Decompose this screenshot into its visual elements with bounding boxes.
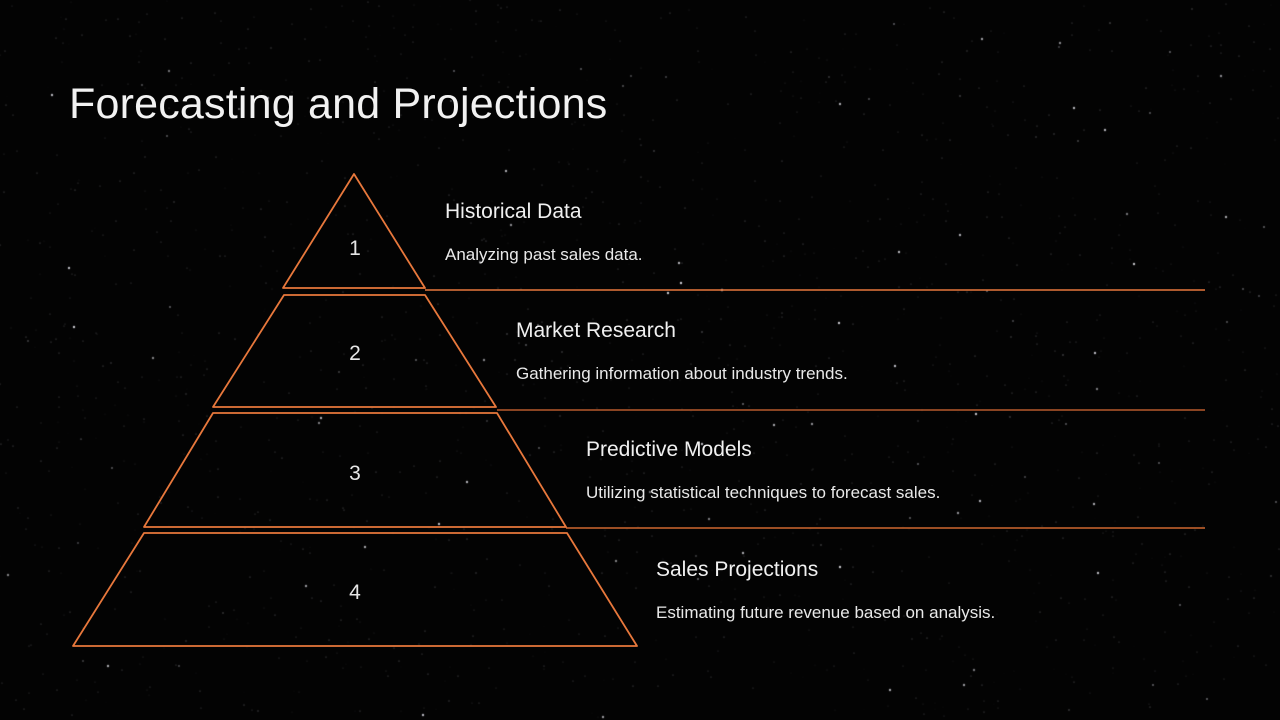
pyramid-tier-2-description: Gathering information about industry tre… — [516, 363, 848, 385]
pyramid-tier-3-description: Utilizing statistical techniques to fore… — [586, 482, 940, 504]
pyramid-tier-2-text[interactable]: Market Research Gathering information ab… — [516, 318, 848, 385]
pyramid-tier-4-description: Estimating future revenue based on analy… — [656, 602, 995, 624]
pyramid-tier-1-text[interactable]: Historical Data Analyzing past sales dat… — [445, 199, 643, 266]
pyramid-tier-2-number: 2 — [335, 342, 375, 366]
slide-canvas: Forecasting and Projections 1 2 3 4 Hist… — [0, 0, 1280, 720]
pyramid-tier-4-heading: Sales Projections — [656, 557, 995, 583]
pyramid-tier-1-heading: Historical Data — [445, 199, 643, 225]
pyramid-tier-3-text[interactable]: Predictive Models Utilizing statistical … — [586, 437, 940, 504]
page-title: Forecasting and Projections — [69, 76, 607, 132]
pyramid-tier-1-shape[interactable] — [283, 174, 425, 288]
pyramid-tier-4-number: 4 — [335, 581, 375, 605]
pyramid-tier-3-heading: Predictive Models — [586, 437, 940, 463]
pyramid-tier-2-heading: Market Research — [516, 318, 848, 344]
pyramid-tier-4-text[interactable]: Sales Projections Estimating future reve… — [656, 557, 995, 624]
pyramid-tier-1-description: Analyzing past sales data. — [445, 244, 643, 266]
pyramid-tier-3-number: 3 — [335, 462, 375, 486]
pyramid-tier-1-number: 1 — [335, 237, 375, 261]
